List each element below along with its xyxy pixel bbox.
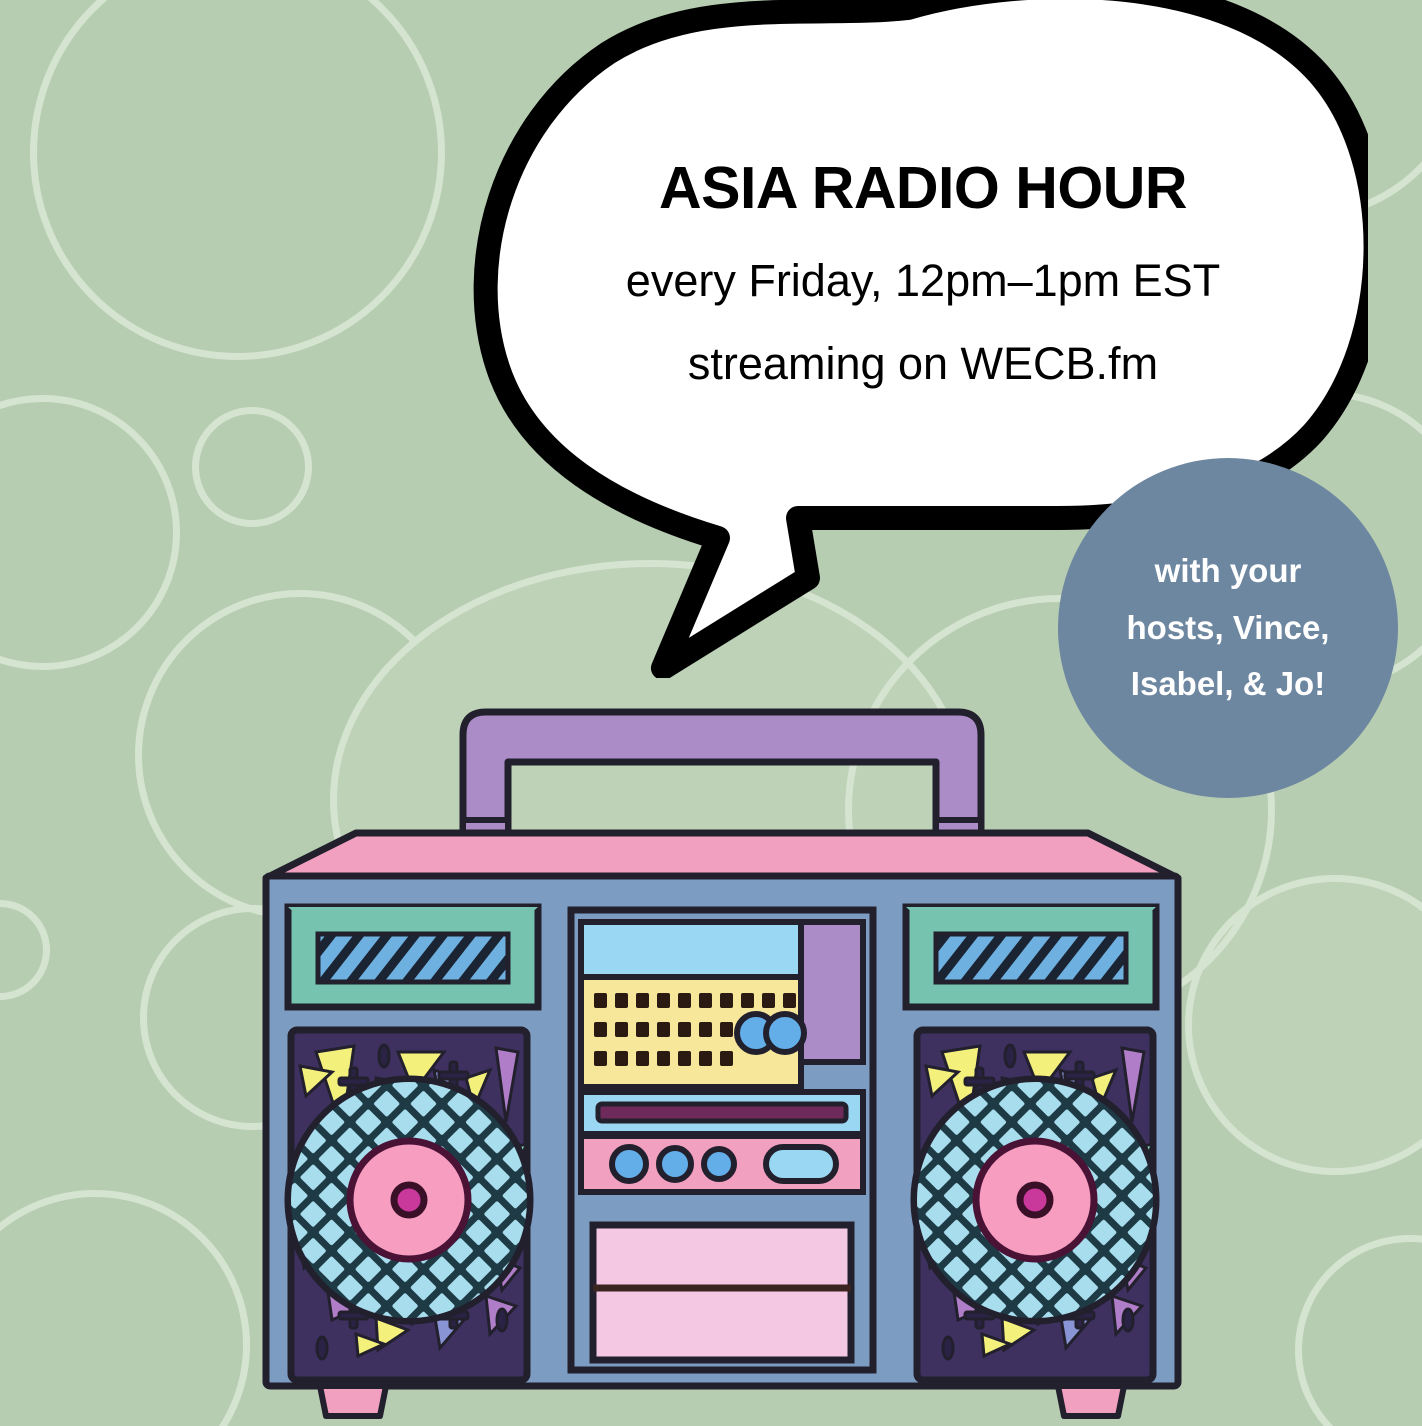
bg-bubble — [1295, 1235, 1422, 1426]
bg-bubble — [192, 407, 312, 527]
knob — [766, 1014, 804, 1052]
display-screen — [581, 922, 801, 977]
speaker-dust-cap — [1020, 1185, 1050, 1215]
hosts-line-2: hosts, Vince, — [1127, 600, 1330, 657]
cassette-door — [593, 1225, 851, 1360]
foot-left — [320, 1386, 386, 1416]
poster-canvas: ASIA RADIO HOUR every Friday, 12pm–1pm E… — [0, 0, 1422, 1426]
bg-bubble — [0, 1190, 250, 1426]
stream-line: streaming on WECB.fm — [528, 341, 1318, 386]
poster-title: ASIA RADIO HOUR — [528, 158, 1318, 220]
bg-bubble — [0, 395, 180, 670]
boombox-illustration — [258, 700, 1186, 1426]
control-button — [659, 1148, 691, 1180]
schedule-line: every Friday, 12pm–1pm EST — [528, 258, 1318, 303]
right-vent-grille — [906, 907, 1156, 1007]
bg-bubble — [0, 900, 50, 1000]
foot-right — [1058, 1386, 1124, 1416]
control-button — [704, 1149, 734, 1179]
left-speaker — [288, 1030, 531, 1380]
tape-slot — [581, 1092, 863, 1134]
side-strip — [801, 922, 863, 1062]
boombox-top-deck — [266, 833, 1178, 878]
bg-bubble — [30, 0, 445, 360]
control-button — [612, 1147, 646, 1181]
speaker-dust-cap — [394, 1185, 424, 1215]
keypad — [581, 977, 804, 1087]
hosts-line-1: with your — [1155, 543, 1302, 600]
control-button-wide — [766, 1147, 836, 1181]
transport-controls — [581, 1136, 863, 1192]
left-vent-grille — [288, 907, 538, 1007]
right-speaker — [914, 1030, 1157, 1380]
speech-bubble-text: ASIA RADIO HOUR every Friday, 12pm–1pm E… — [528, 158, 1318, 386]
